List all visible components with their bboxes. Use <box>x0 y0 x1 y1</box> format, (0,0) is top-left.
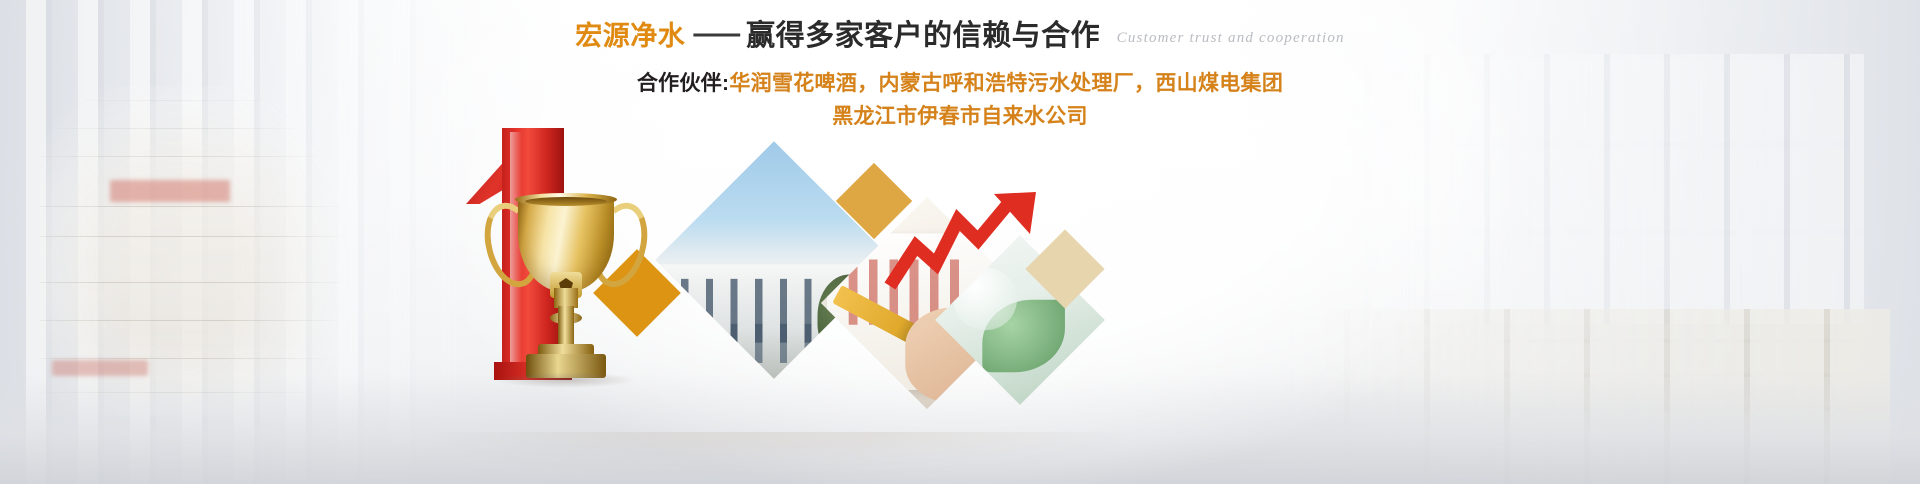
partner-list: 合作伙伴:华润雪花啤酒，内蒙古呼和浩特污水处理厂，西山煤电集团 黑龙江市伊春市自… <box>0 68 1920 134</box>
floor-reflection <box>430 432 1130 484</box>
partner-line-1: 合作伙伴:华润雪花啤酒，内蒙古呼和浩特污水处理厂，西山煤电集团 <box>0 68 1920 101</box>
partner-line-2: 黑龙江市伊春市自来水公司 <box>0 101 1920 134</box>
headline-main-text: 赢得多家客户的信赖与合作 <box>746 20 1100 52</box>
banner-headline: 宏源净水 一一 赢得多家客户的信赖与合作 Customer trust and … <box>0 22 1920 51</box>
headline-dash: 一一 <box>690 23 742 51</box>
promo-banner: 宏源净水 一一 赢得多家客户的信赖与合作 Customer trust and … <box>0 0 1920 484</box>
brand-name: 宏源净水 <box>575 21 685 51</box>
partner-label: 合作伙伴: <box>637 72 730 95</box>
partner-names-line-2: 黑龙江市伊春市自来水公司 <box>832 105 1088 128</box>
headline-english-subtitle: Customer trust and cooperation <box>1105 30 1345 46</box>
factory-photo-diamond <box>655 141 893 379</box>
gold-trophy-icon <box>492 196 640 382</box>
partner-names-line-1: 华润雪花啤酒，内蒙古呼和浩特污水处理厂，西山煤电集团 <box>729 72 1283 95</box>
growth-arrow-icon <box>884 190 1040 296</box>
